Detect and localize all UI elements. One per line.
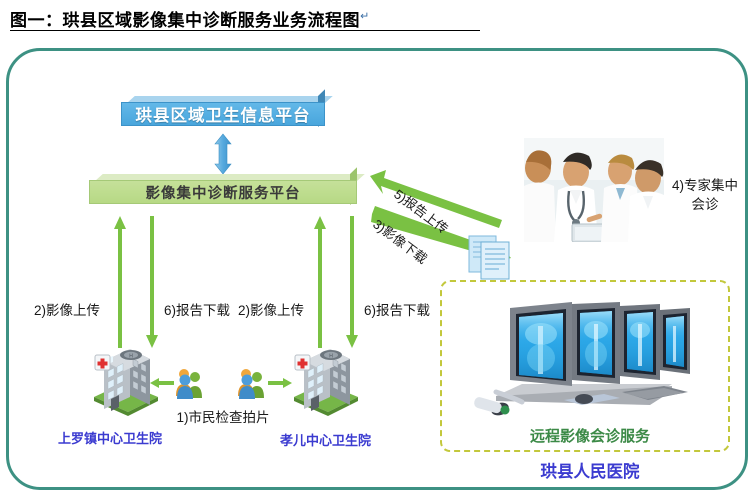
people-group-icon-right <box>234 366 270 402</box>
caption-underline <box>10 30 480 31</box>
paragraph-mark: ↵ <box>360 10 370 22</box>
svg-text:H: H <box>329 354 333 360</box>
box-front-face: 影像集中诊断服务平台 <box>89 180 357 204</box>
blue-double-arrow-icon <box>210 134 236 174</box>
citizen-examination-label: 1)市民检查拍片 <box>168 406 278 426</box>
box-front-face: 珙县区域卫生信息平台 <box>121 102 325 126</box>
flow-label-left-download: 6)报告下载 <box>164 299 230 319</box>
green-right-arrow-icon <box>268 378 292 388</box>
hospital-name-label: 珙县人民医院 <box>495 458 685 482</box>
expert-consultation-label: 4)专家集中 会诊 <box>660 176 750 214</box>
flow-label-left-upload: 2)影像上传 <box>34 299 100 319</box>
green-down-arrow-icon-right-download <box>345 216 359 348</box>
expert-label-line1: 4)专家集中 <box>660 176 750 195</box>
remote-imaging-service-label: 远程影像会诊服务 <box>500 425 680 446</box>
flow-label-right-download: 6)报告下载 <box>364 299 430 319</box>
expert-label-line2: 会诊 <box>660 195 750 214</box>
imaging-platform-label: 影像集中诊断服务平台 <box>146 182 301 203</box>
green-up-arrow-icon-left-upload <box>113 216 127 348</box>
green-down-arrow-icon-left-download <box>145 216 159 348</box>
xray-viewing-workstation-photo <box>472 292 704 418</box>
hospital-building-icon-right: H <box>288 341 362 415</box>
regional-platform-label: 珙县区域卫生信息平台 <box>136 102 311 126</box>
doctors-consulting-photo <box>524 138 664 242</box>
figure-caption: 图一：珙县区域影像集中诊断服务业务流程图↵ <box>10 6 490 32</box>
green-up-arrow-icon-right-upload <box>313 216 327 348</box>
svg-text:H: H <box>129 354 133 360</box>
left-clinic-label: 上罗镇中心卫生院 <box>58 428 162 447</box>
regional-health-platform-box[interactable]: 珙县区域卫生信息平台 <box>121 96 325 132</box>
figure-caption-text: 图一：珙县区域影像集中诊断服务业务流程图 <box>10 11 360 30</box>
people-group-icon-left <box>172 366 208 402</box>
documents-icon <box>468 232 514 280</box>
imaging-diagnosis-platform-box[interactable]: 影像集中诊断服务平台 <box>89 174 357 210</box>
diagram-canvas: 图一：珙县区域影像集中诊断服务业务流程图↵ 珙县区域卫生信息平台 影像集中诊断服… <box>0 0 756 498</box>
right-clinic-label: 孝儿中心卫生院 <box>280 430 371 449</box>
flow-label-right-upload: 2)影像上传 <box>238 299 304 319</box>
green-left-arrow-icon <box>150 378 174 388</box>
